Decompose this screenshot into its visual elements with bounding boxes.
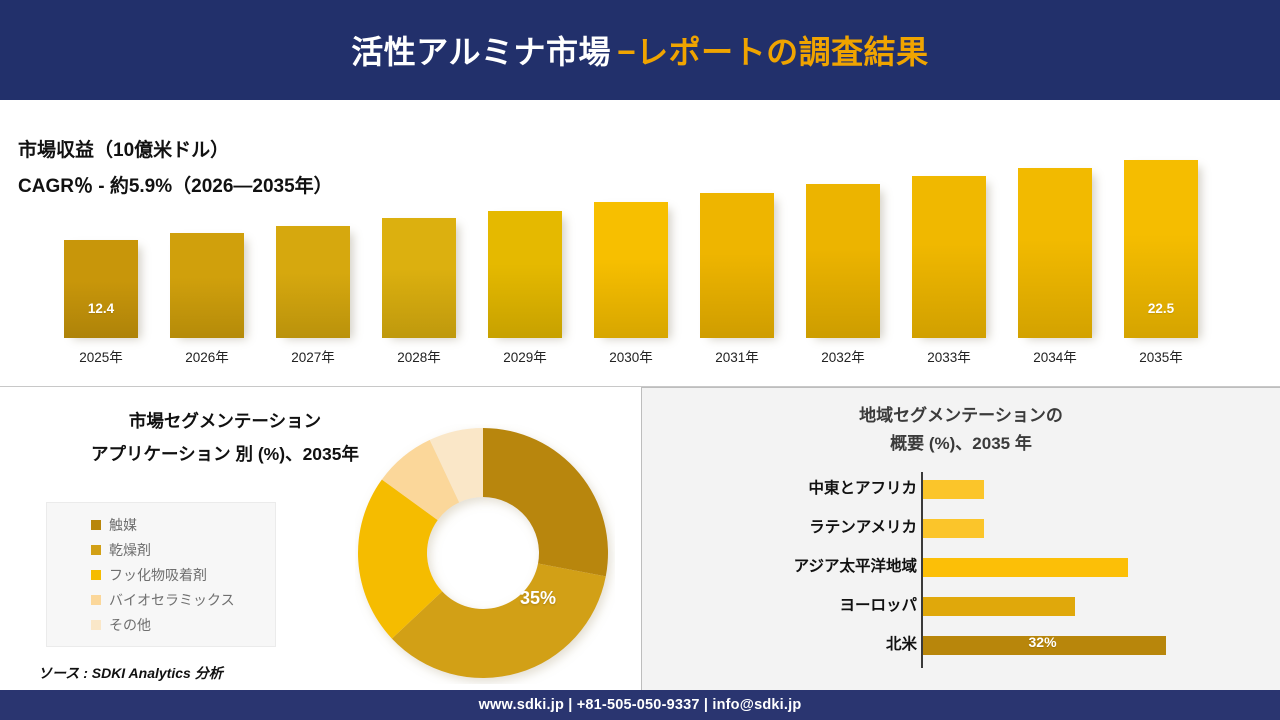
bar-axis-label: 2028年 — [364, 346, 474, 366]
legend-label: フッ化物吸着剤 — [109, 565, 207, 585]
bar-rect — [912, 176, 986, 338]
legend-label: その他 — [109, 615, 151, 635]
application-legend: 触媒乾燥剤フッ化物吸着剤バイオセラミックスその他 — [46, 502, 276, 647]
region-row-ラテンアメリカ: ラテンアメリカ — [642, 515, 1280, 541]
bar-rect — [170, 233, 244, 338]
bar-value-label: 22.5 — [1124, 301, 1198, 316]
region-axis-label: アジア太平洋地域 — [794, 554, 917, 580]
legend-item-1: 乾燥剤 — [47, 537, 275, 562]
region-axis-label: ヨーロッパ — [839, 593, 917, 619]
region-value-label: 32% — [1029, 634, 1057, 650]
application-segmentation-title: 市場セグメンテーション アプリケーション 別 (%)、2035年 — [60, 405, 390, 471]
bar-axis-label: 2035年 — [1106, 346, 1216, 366]
region-row-北米: 北米32% — [642, 632, 1280, 658]
page-header: 活性アルミナ市場 −レポートの調査結果 — [0, 0, 1280, 100]
legend-label: 乾燥剤 — [109, 540, 151, 560]
regional-title-line1: 地域セグメンテーションの — [642, 402, 1280, 430]
bar-rect: 22.5 — [1124, 160, 1198, 338]
region-bar-rect — [923, 597, 1075, 616]
bar-axis-label: 2027年 — [258, 346, 368, 366]
legend-label: 触媒 — [109, 515, 137, 535]
revenue-bar-chart: 12.42025年2026年2027年2028年2029年2030年2031年2… — [0, 103, 1280, 386]
bar-axis-label: 2031年 — [682, 346, 792, 366]
bar-axis-label: 2029年 — [470, 346, 580, 366]
legend-swatch-icon — [91, 545, 101, 555]
region-bar-rect — [923, 519, 984, 538]
donut-slice-触媒 — [483, 428, 608, 576]
footer-contact-text: www.sdki.jp | +81-505-050-9337 | info@sd… — [479, 697, 802, 713]
bar-value-label: 12.4 — [64, 301, 138, 316]
page-footer: www.sdki.jp | +81-505-050-9337 | info@sd… — [0, 690, 1280, 720]
legend-swatch-icon — [91, 620, 101, 630]
revenue-bar-2034年 — [1018, 168, 1092, 338]
region-bar-rect — [923, 480, 984, 499]
region-axis-label: ラテンアメリカ — [809, 515, 917, 541]
legend-swatch-icon — [91, 520, 101, 530]
bar-rect — [594, 202, 668, 338]
bar-axis-label: 2032年 — [788, 346, 898, 366]
legend-label: バイオセラミックス — [109, 590, 235, 610]
page-title-sub: −レポートの調査結果 — [617, 27, 929, 73]
revenue-bar-2026年 — [170, 233, 244, 338]
legend-swatch-icon — [91, 595, 101, 605]
region-axis-label: 北米 — [886, 632, 917, 658]
revenue-bar-2030年 — [594, 202, 668, 338]
infographic-page: 活性アルミナ市場 −レポートの調査結果 市場収益（10億米ドル） CAGR％ -… — [0, 0, 1280, 720]
revenue-bar-2032年 — [806, 184, 880, 338]
bar-rect — [488, 211, 562, 338]
bar-rect — [1018, 168, 1092, 338]
donut-svg — [355, 424, 615, 684]
legend-swatch-icon — [91, 570, 101, 580]
revenue-bar-2028年 — [382, 218, 456, 338]
application-title-line1: 市場セグメンテーション — [60, 405, 390, 438]
region-row-アジア太平洋地域: アジア太平洋地域 — [642, 554, 1280, 580]
donut-callout-label: 35% — [520, 588, 556, 609]
revenue-bar-2035年: 22.5 — [1124, 160, 1198, 338]
region-row-ヨーロッパ: ヨーロッパ — [642, 593, 1280, 619]
revenue-bar-2029年 — [488, 211, 562, 338]
regional-segmentation-title: 地域セグメンテーションの 概要 (%)、2035 年 — [642, 402, 1280, 458]
legend-item-4: その他 — [47, 612, 275, 637]
revenue-bar-2027年 — [276, 226, 350, 338]
page-title: 活性アルミナ市場 −レポートの調査結果 — [351, 27, 928, 73]
bar-axis-label: 2025年 — [46, 346, 156, 366]
bar-axis-label: 2026年 — [152, 346, 262, 366]
bar-rect — [382, 218, 456, 338]
revenue-bar-2025年: 12.4 — [64, 240, 138, 338]
bar-rect: 12.4 — [64, 240, 138, 338]
region-axis-label: 中東とアフリカ — [808, 476, 917, 502]
revenue-bar-2031年 — [700, 193, 774, 338]
legend-item-2: フッ化物吸着剤 — [47, 562, 275, 587]
region-bar-rect — [923, 558, 1128, 577]
regional-title-line2: 概要 (%)、2035 年 — [642, 430, 1280, 458]
application-donut-chart — [355, 424, 615, 684]
regional-segmentation-panel: 地域セグメンテーションの 概要 (%)、2035 年 中東とアフリカラテンアメリ… — [642, 387, 1280, 691]
bar-rect — [276, 226, 350, 338]
bar-rect — [700, 193, 774, 338]
market-revenue-panel: 市場収益（10億米ドル） CAGR％ - 約5.9%（2026―2035年） 1… — [0, 103, 1280, 387]
revenue-bar-2033年 — [912, 176, 986, 338]
legend-item-3: バイオセラミックス — [47, 587, 275, 612]
bar-axis-label: 2033年 — [894, 346, 1004, 366]
region-row-中東とアフリカ: 中東とアフリカ — [642, 476, 1280, 502]
source-note: ソース : SDKI Analytics 分析 — [38, 663, 223, 683]
bar-axis-label: 2034年 — [1000, 346, 1110, 366]
legend-item-0: 触媒 — [47, 512, 275, 537]
bar-rect — [806, 184, 880, 338]
bar-axis-label: 2030年 — [576, 346, 686, 366]
page-title-main: 活性アルミナ市場 — [351, 27, 611, 73]
application-title-line2: アプリケーション 別 (%)、2035年 — [60, 438, 390, 471]
